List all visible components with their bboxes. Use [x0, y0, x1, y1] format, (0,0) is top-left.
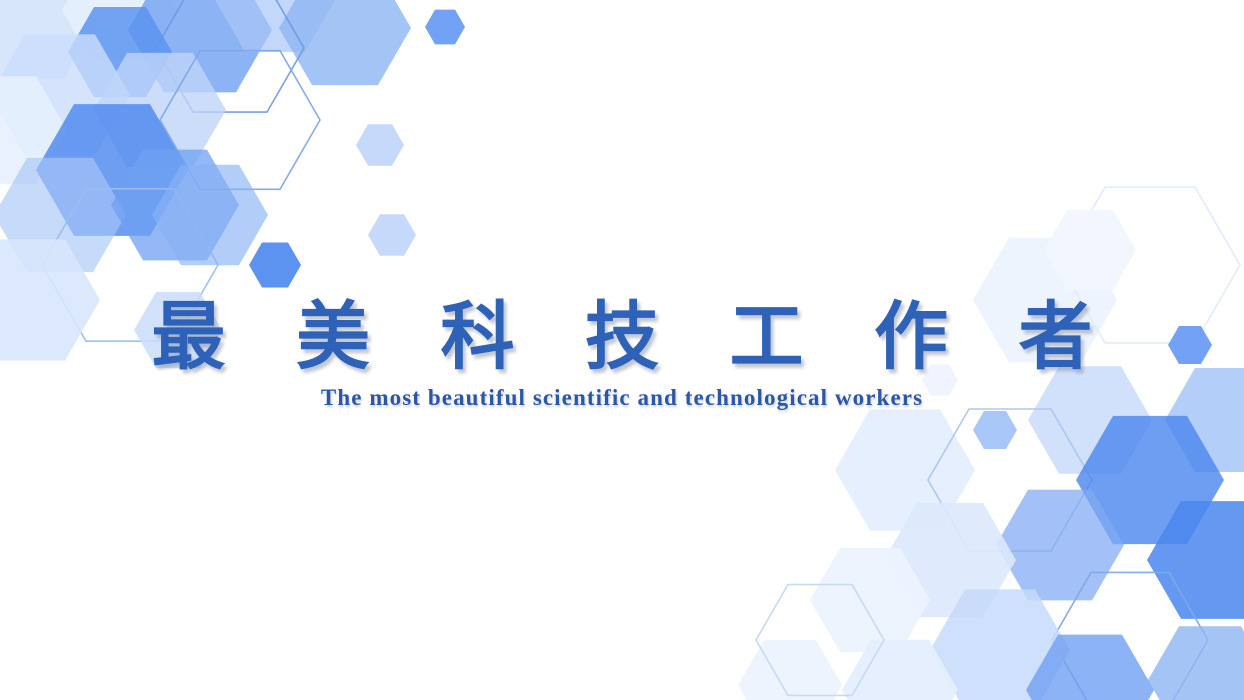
hexagon-shape — [0, 0, 98, 79]
hexagon-shape — [0, 34, 130, 155]
hexagon-shape — [1026, 635, 1154, 700]
hexagon-shape — [0, 158, 126, 272]
hexagon-shape — [973, 411, 1017, 449]
hexagon-shape — [128, 0, 272, 92]
hexagon-shape — [1052, 572, 1208, 700]
hexagon-shape — [738, 640, 842, 700]
hexagon-shape — [756, 585, 884, 696]
hexagon-shape — [884, 503, 1016, 617]
hexagon-shape — [356, 124, 404, 166]
hexagon-shape — [152, 165, 268, 265]
slide-canvas: 最 美 科 技 工 作 者 The most beautiful scienti… — [0, 0, 1244, 700]
hexagon-shape — [810, 548, 930, 652]
hexagon-shape — [1147, 501, 1244, 619]
hexagon-shape — [835, 409, 975, 530]
hexagon-shape — [996, 490, 1124, 601]
title-block: 最 美 科 技 工 作 者 The most beautiful scienti… — [0, 296, 1244, 411]
hexagon-shape — [1044, 210, 1136, 290]
hexagon-shape — [249, 242, 301, 287]
hexagon-shape — [425, 10, 465, 45]
hexagon-shape — [111, 150, 239, 261]
hexagon-shape — [68, 7, 172, 97]
hexagon-shape — [62, 0, 178, 60]
hexagon-shape — [215, 0, 335, 52]
hexagon-shape — [1148, 626, 1244, 700]
hexagon-shape — [160, 51, 320, 190]
hexagon-shape — [36, 104, 188, 236]
hexagon-shape — [279, 0, 411, 85]
page-title: 最 美 科 技 工 作 者 — [0, 296, 1244, 380]
hexagon-shape — [368, 214, 416, 256]
hexagon-shape — [928, 409, 1092, 551]
hexagon-shape — [930, 589, 1070, 700]
hexagon-shape — [1076, 416, 1224, 544]
page-subtitle: The most beautiful scientific and techno… — [0, 384, 1244, 411]
hexagon-shape — [842, 640, 958, 700]
hexagon-shape — [156, 0, 304, 112]
hexagon-shape — [94, 53, 226, 167]
hexagon-shape — [0, 76, 67, 183]
